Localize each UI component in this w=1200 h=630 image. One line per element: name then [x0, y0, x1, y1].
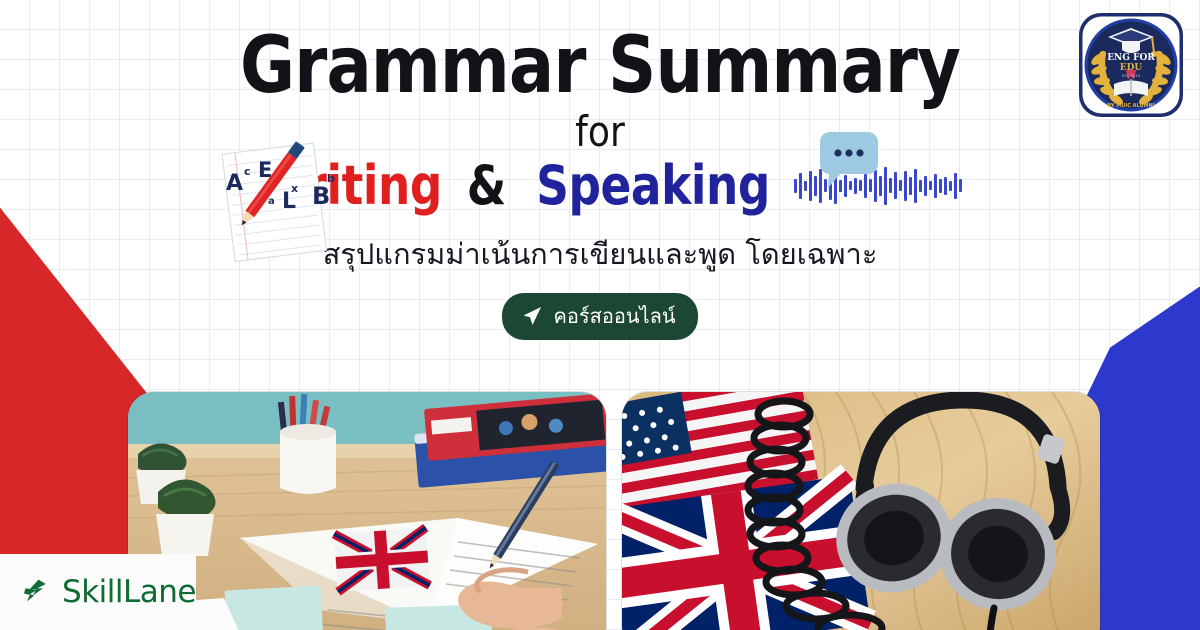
waveform-bar — [919, 180, 922, 192]
waveform-bar — [959, 179, 962, 192]
photo-writing-desk — [128, 392, 606, 630]
online-course-badge-label: คอร์สออนไลน์ — [553, 300, 675, 332]
waveform-bar — [934, 174, 937, 198]
skilllane-mark-icon — [24, 573, 53, 611]
skilllane-logo[interactable]: SkillLane — [0, 554, 196, 630]
eng-for-edu-logo: ENG FOR EDU EST. 2019 BY MUIC ALUMNI — [1078, 12, 1184, 118]
waveform-bar — [814, 176, 817, 196]
waveform-bar — [804, 181, 807, 191]
waveform-bar — [884, 167, 887, 205]
brand-logo-year: EST. 2019 — [1122, 74, 1140, 78]
brand-logo-line2: EDU — [1120, 63, 1143, 73]
headline-block: Grammar Summary for Writing & Speaking ส… — [0, 28, 1200, 340]
svg-text:L: L — [282, 189, 296, 214]
page-title: Grammar Summary — [84, 28, 1116, 104]
waveform-bar — [809, 171, 812, 201]
skilllane-wordmark: SkillLane — [62, 574, 196, 610]
waveform-bar — [939, 179, 942, 193]
svg-text:c: c — [244, 165, 251, 178]
subtitle-thai: สรุปแกรมม่าเน้นการเขียนและพูด โดยเฉพาะ — [0, 231, 1200, 277]
waveform-bar — [909, 177, 912, 195]
brand-logo-footer: BY MUIC ALUMNI — [1107, 103, 1154, 109]
title-ampersand: & — [464, 159, 510, 213]
waveform-bar — [924, 176, 927, 196]
title-skills-row: Writing & Speaking — [0, 159, 1200, 213]
title-speaking: Speaking — [536, 159, 770, 213]
waveform-bar — [904, 171, 907, 201]
photo-headphones-flags — [622, 392, 1100, 630]
course-banner: A c E a x L B b — [0, 0, 1200, 630]
waveform-bar — [929, 181, 932, 190]
waveform-bar — [889, 178, 892, 193]
waveform-bar — [949, 181, 952, 191]
waveform-bar — [894, 172, 897, 199]
waveform-bar — [954, 173, 957, 199]
speech-bubble-icon — [818, 128, 880, 190]
waveform-bar — [899, 180, 902, 191]
waveform-bar — [799, 173, 802, 199]
paper-plane-icon — [520, 304, 544, 328]
brand-logo-line1: ENG FOR — [1107, 53, 1155, 63]
waveform-bar — [944, 177, 947, 195]
svg-text:a: a — [268, 196, 275, 207]
waveform-bar — [914, 169, 917, 203]
online-course-badge[interactable]: คอร์สออนไลน์ — [502, 293, 697, 340]
svg-text:B: B — [312, 182, 330, 210]
waveform-bar — [794, 179, 797, 193]
pencil-notepad-illustration: A c E a x L B b — [196, 134, 356, 266]
svg-text:A: A — [226, 171, 243, 196]
svg-text:b: b — [327, 172, 335, 185]
badge-container: คอร์สออนไลน์ — [0, 293, 1200, 340]
